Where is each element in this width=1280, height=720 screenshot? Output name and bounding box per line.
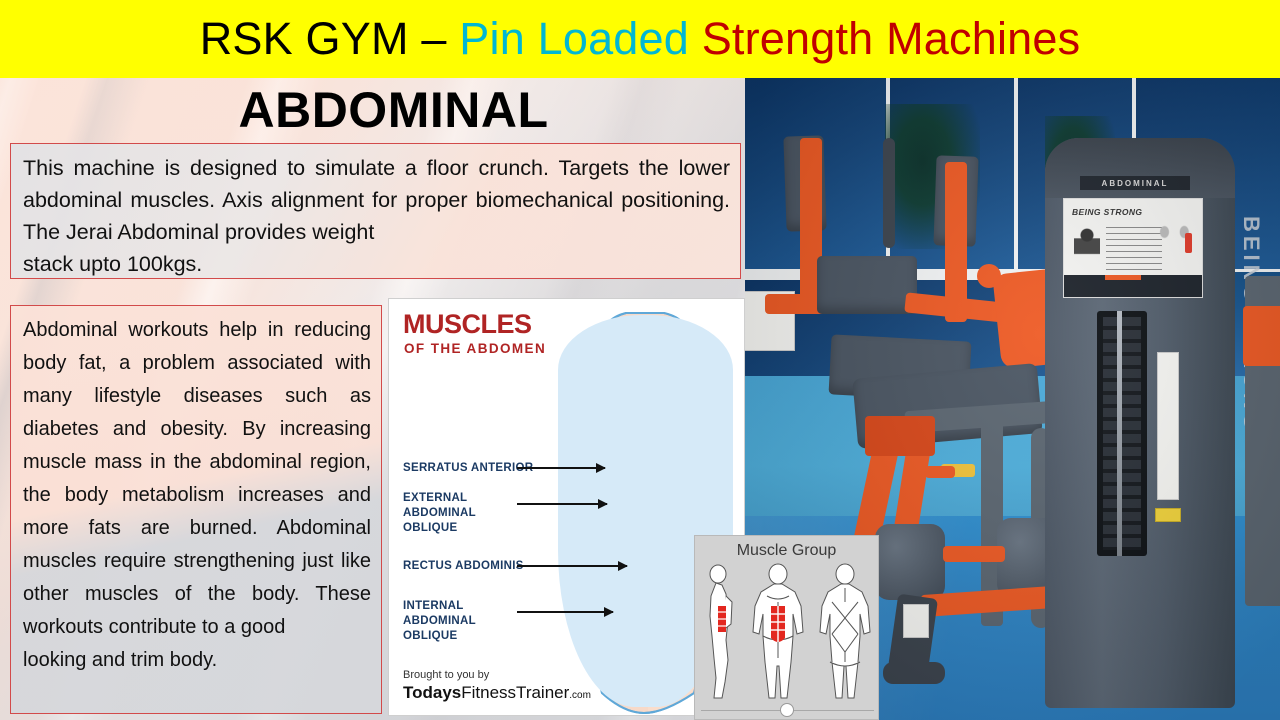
credit-brand-bold: Todays [403, 683, 461, 702]
label-external-abdominal-oblique: EXTERNAL ABDOMINAL OBLIQUE [403, 491, 523, 536]
base-label [903, 604, 929, 638]
arrow-external-abdominal-oblique [517, 503, 607, 505]
muscle-highlight [1185, 233, 1192, 253]
anatomy-subtitle: OF THE ABDOMEN [404, 341, 546, 356]
placard-brand: BEING STRONG [1072, 207, 1142, 217]
arrow-rectus-abdominis [517, 565, 627, 567]
label-internal-abdominal-oblique: INTERNAL ABDOMINAL OBLIQUE [403, 599, 523, 644]
arrow-serratus-anterior [517, 467, 605, 469]
description-text: This machine is designed to simulate a f… [23, 156, 730, 244]
inset-slider-knob[interactable] [780, 703, 794, 717]
body-front-view [747, 562, 809, 702]
label-serratus-anterior: SERRATUS ANTERIOR [403, 461, 533, 476]
warning-sticker [1155, 508, 1181, 522]
banner: RSK GYM – Pin Loaded Strength Machines [0, 0, 1280, 78]
instruction-placard: BEING STRONG [1063, 198, 1203, 298]
benefits-box: Abdominal workouts help in reducing body… [10, 305, 382, 714]
body-side-view [698, 562, 742, 702]
credit-brand-tld: .com [569, 690, 591, 701]
arrow-internal-abdominal-oblique [517, 611, 613, 613]
roller-axle [943, 546, 1005, 562]
orange-lever [925, 466, 955, 478]
seat-pad [817, 256, 917, 314]
page-title: ABDOMINAL [0, 78, 745, 142]
credit-brand-light: FitnessTrainer [461, 683, 569, 702]
banner-part-2: Pin Loaded [459, 13, 701, 64]
roller-pad [875, 524, 945, 600]
machine-nameplate: ABDOMINAL [1080, 176, 1190, 190]
placard-footer-bar [1064, 275, 1202, 297]
description-last-line: stack upto 100kgs. [23, 248, 730, 280]
body-back-view [814, 562, 876, 702]
benefits-last-line: looking and trim body. [23, 644, 371, 677]
orange-bracket [865, 416, 935, 456]
stack-label [1157, 352, 1179, 500]
description-box: This machine is designed to simulate a f… [10, 143, 741, 279]
muscle-group-title: Muscle Group [695, 542, 878, 560]
anatomy-panel: MUSCLES OF THE ABDOMEN [388, 298, 745, 716]
credit-line: Brought to you by [403, 669, 489, 681]
banner-part-1: RSK GYM – [200, 13, 460, 64]
banner-title: RSK GYM – Pin Loaded Strength Machines [200, 13, 1081, 65]
exercise-figure-icon [1074, 225, 1100, 271]
banner-part-3: Strength Machines [702, 13, 1081, 64]
neighbor-machine-arm [1243, 306, 1280, 366]
benefits-text: Abdominal workouts help in reducing body… [23, 319, 371, 638]
muscle-group-inset: Muscle Group [694, 535, 879, 720]
base-foot [883, 662, 945, 684]
weight-stack-window [1097, 311, 1147, 556]
anatomy-title: MUSCLES [403, 309, 532, 340]
credit-brand: TodaysFitnessTrainer.com [403, 683, 591, 703]
muscle-group-figures [695, 562, 878, 704]
page-title-text: ABDOMINAL [238, 81, 548, 139]
machine-post [883, 138, 895, 248]
label-rectus-abdominis: RECTUS ABDOMINIS [403, 559, 524, 574]
slide-root: ABDOMINAL BEING STRONG BEING STRONG RSK … [0, 0, 1280, 720]
